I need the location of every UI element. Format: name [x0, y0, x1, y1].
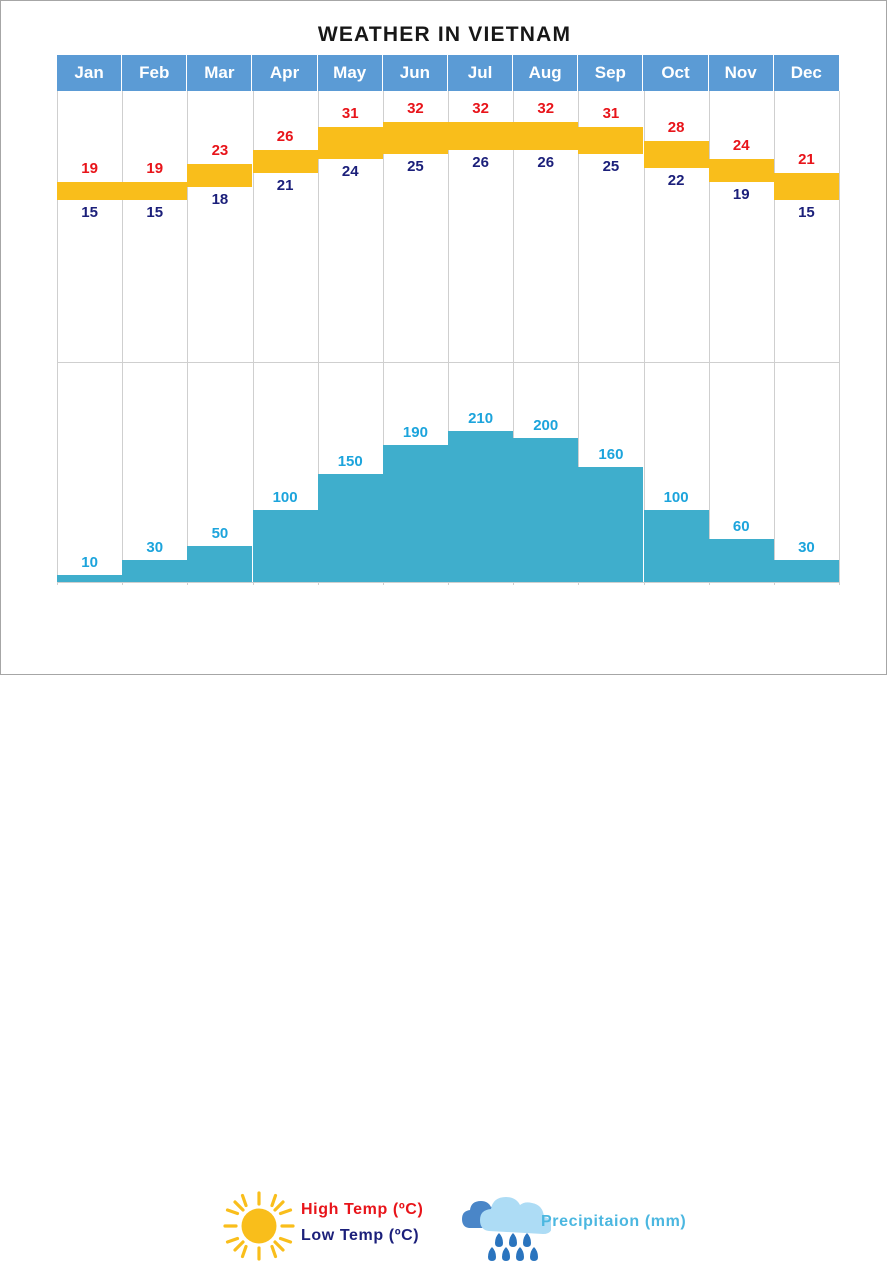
- precip-value: 150: [318, 453, 383, 470]
- page-title: WEATHER IN VIETNAM: [1, 23, 888, 47]
- precip-column-sep: 160: [578, 91, 643, 582]
- precip-column-jun: 190: [383, 91, 448, 582]
- precip-value: 100: [253, 489, 318, 506]
- precip-column-dec: 30: [774, 91, 839, 582]
- precip-column-oct: 100: [644, 91, 709, 582]
- month-header-mar: Mar: [187, 55, 252, 91]
- high-temp-legend-label: High Temp (ºC): [301, 1197, 423, 1223]
- sun-icon: [223, 1191, 295, 1261]
- precip-bar: [253, 510, 318, 582]
- precip-column-mar: 50: [187, 91, 252, 582]
- precip-bar: [318, 474, 383, 582]
- precip-value: 50: [187, 525, 252, 542]
- cloud-rain-icon: [459, 1191, 551, 1263]
- precip-bar: [513, 438, 578, 582]
- low-temp-legend-label: Low Temp (ºC): [301, 1223, 423, 1249]
- precip-column-aug: 200: [513, 91, 578, 582]
- month-header-aug: Aug: [513, 55, 578, 91]
- month-header-jan: Jan: [57, 55, 122, 91]
- precipitation-legend-label: Precipitaion (mm): [541, 1213, 686, 1231]
- precip-value: 190: [383, 424, 448, 441]
- chart-legend: High Temp (ºC) Low Temp (ºC) Precipitaio…: [1, 593, 888, 675]
- precip-column-jul: 210: [448, 91, 513, 582]
- month-header-row: JanFebMarAprMayJunJulAugSepOctNovDec: [57, 55, 839, 91]
- month-header-nov: Nov: [709, 55, 774, 91]
- weather-chart: JanFebMarAprMayJunJulAugSepOctNovDec 191…: [57, 55, 839, 585]
- precip-value: 10: [57, 554, 122, 571]
- precip-value: 160: [578, 446, 643, 463]
- month-header-oct: Oct: [643, 55, 708, 91]
- precip-bar: [644, 510, 709, 582]
- month-header-apr: Apr: [252, 55, 317, 91]
- precip-value: 200: [513, 417, 578, 434]
- precip-bar: [187, 546, 252, 582]
- precip-column-nov: 60: [709, 91, 774, 582]
- month-header-jun: Jun: [383, 55, 448, 91]
- precip-bar: [774, 560, 839, 582]
- precip-bar: [122, 560, 187, 582]
- plot-body: 1915191523182621312432253226322631252822…: [57, 91, 839, 585]
- precip-value: 100: [644, 489, 709, 506]
- precip-column-may: 150: [318, 91, 383, 582]
- precip-value: 30: [122, 539, 187, 556]
- precip-column-feb: 30: [122, 91, 187, 582]
- precip-bar: [383, 445, 448, 582]
- precip-bar: [578, 467, 643, 582]
- precip-bar: [448, 431, 513, 582]
- precip-column-jan: 10: [57, 91, 122, 582]
- month-header-dec: Dec: [774, 55, 839, 91]
- month-header-jul: Jul: [448, 55, 513, 91]
- temp-legend-text: High Temp (ºC) Low Temp (ºC): [301, 1197, 423, 1249]
- precip-value: 30: [774, 539, 839, 556]
- month-header-feb: Feb: [122, 55, 187, 91]
- precip-bar: [709, 539, 774, 582]
- precip-value: 60: [709, 518, 774, 535]
- precip-column-apr: 100: [253, 91, 318, 582]
- chart-frame: WEATHER IN VIETNAM JanFebMarAprMayJunJul…: [0, 0, 887, 675]
- grid-vline: [839, 91, 840, 585]
- precip-value: 210: [448, 410, 513, 427]
- precip-bar: [57, 575, 122, 582]
- month-header-sep: Sep: [578, 55, 643, 91]
- month-header-may: May: [318, 55, 383, 91]
- precip-baseline: [57, 582, 839, 583]
